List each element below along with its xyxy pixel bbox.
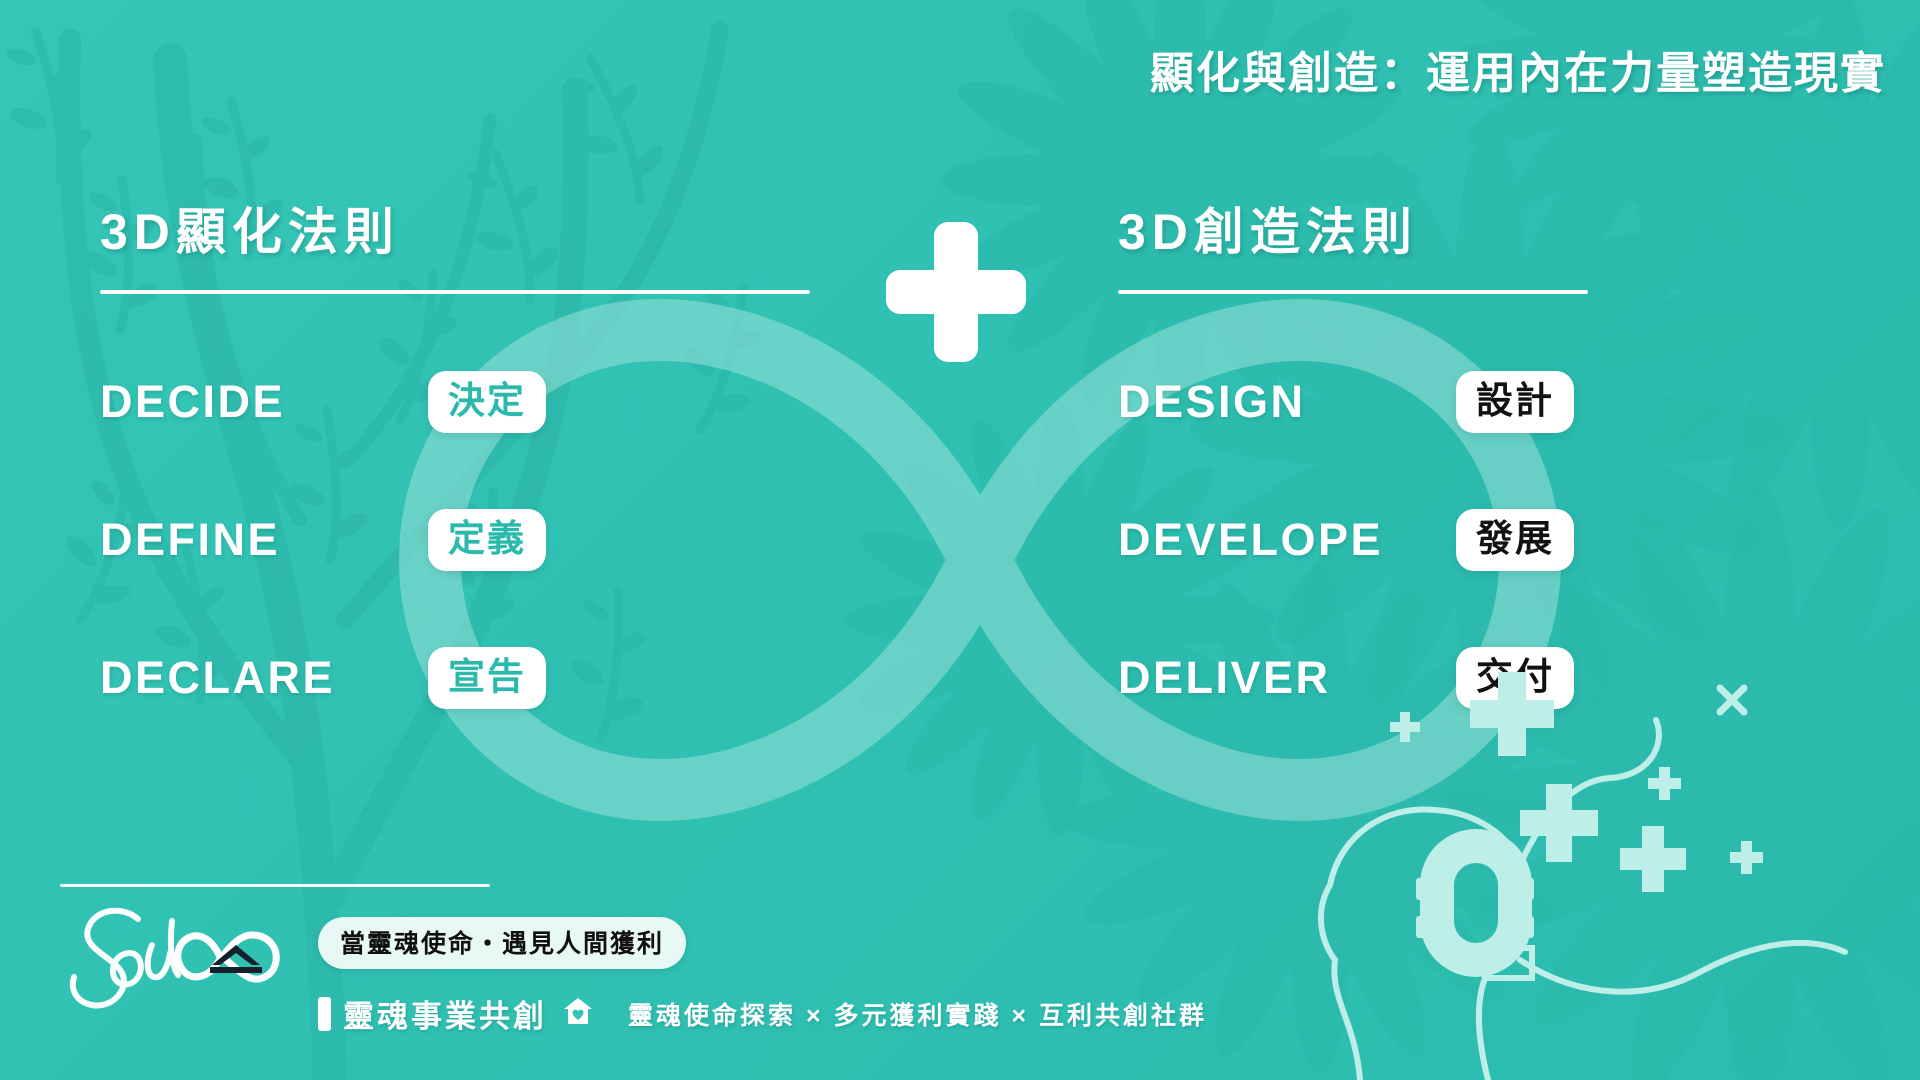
footer: 當靈魂使命・遇見人間獲利 靈魂事業共創 靈魂使命探索 × 多元獲利實踐 × 互利… bbox=[60, 884, 1460, 1054]
row-badge: 發展 bbox=[1456, 509, 1574, 571]
soul-infinity-logo[interactable] bbox=[60, 897, 310, 1017]
footer-divider bbox=[60, 884, 490, 887]
brand-name: 靈魂事業共創 bbox=[343, 991, 547, 1036]
column-manifestation: 3D顯化法則 DECIDE 決定 DEFINE 定義 DECLARE 宣告 bbox=[100, 196, 820, 770]
row-deliver[interactable]: DELIVER 交付 bbox=[1118, 632, 1818, 724]
rows-left: DECIDE 決定 DEFINE 定義 DECLARE 宣告 bbox=[100, 356, 820, 724]
row-badge: 宣告 bbox=[428, 647, 546, 709]
row-word: DESIGN bbox=[1118, 376, 1428, 428]
row-word: DEVELOPE bbox=[1118, 514, 1428, 566]
house-heart-icon bbox=[562, 995, 594, 1032]
row-badge: 設計 bbox=[1456, 371, 1574, 433]
row-develope[interactable]: DEVELOPE 發展 bbox=[1118, 494, 1818, 586]
column-divider-right bbox=[1118, 290, 1588, 294]
row-word: DECLARE bbox=[100, 652, 400, 704]
row-badge: 決定 bbox=[428, 371, 546, 433]
row-define[interactable]: DEFINE 定義 bbox=[100, 494, 820, 586]
plus-icon-vertical-bar bbox=[934, 222, 978, 362]
plus-icon bbox=[886, 222, 1026, 362]
brand-subtitle: 靈魂使命探索 × 多元獲利實踐 × 互利共創社群 bbox=[628, 996, 1207, 1032]
row-declare[interactable]: DECLARE 宣告 bbox=[100, 632, 820, 724]
rows-right: DESIGN 設計 DEVELOPE 發展 DELIVER 交付 bbox=[1118, 356, 1818, 724]
column-creation: 3D創造法則 DESIGN 設計 DEVELOPE 發展 DELIVER 交付 bbox=[1118, 196, 1818, 770]
column-divider-left bbox=[100, 290, 810, 294]
row-design[interactable]: DESIGN 設計 bbox=[1118, 356, 1818, 448]
column-heading-left: 3D顯化法則 bbox=[100, 196, 820, 268]
row-word: DEFINE bbox=[100, 514, 400, 566]
page-title: 顯化與創造：運用內在力量塑造現實 bbox=[1150, 48, 1886, 101]
row-badge: 定義 bbox=[428, 509, 546, 571]
row-badge: 交付 bbox=[1456, 647, 1574, 709]
row-decide[interactable]: DECIDE 決定 bbox=[100, 356, 820, 448]
logo-script-soul bbox=[73, 911, 178, 1006]
row-word: DELIVER bbox=[1118, 652, 1428, 704]
brand-tick-icon bbox=[318, 997, 331, 1031]
row-word: DECIDE bbox=[100, 376, 400, 428]
footer-tagline-badge: 當靈魂使命・遇見人間獲利 bbox=[318, 917, 686, 969]
column-heading-right: 3D創造法則 bbox=[1118, 196, 1818, 268]
